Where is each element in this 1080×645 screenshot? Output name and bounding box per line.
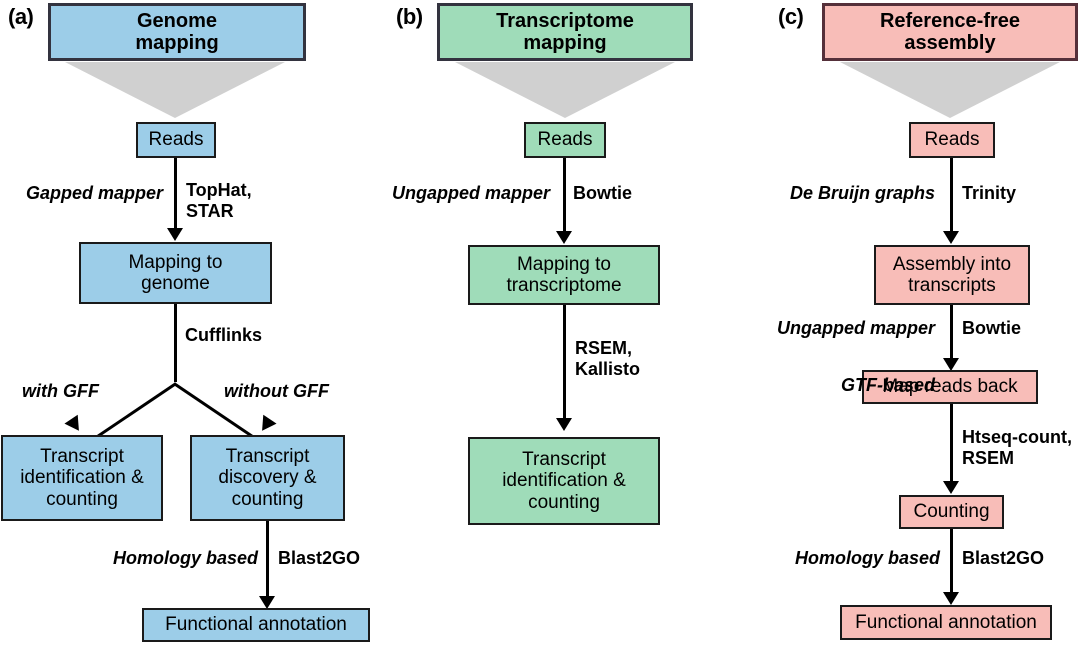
panel-b-arrowhead-counting-icon [556,418,572,431]
panel-b-edge-reads-mapping [563,158,566,232]
workflow-figure: (a) Genome mapping Reads Gapped mapper T… [0,0,1080,645]
panel-a-header: Genome mapping [48,3,306,61]
panel-c-label-trinity: Trinity [962,183,1072,204]
panel-b-node-mapping-to-transcriptome: Mapping to transcriptome [468,245,660,305]
panel-a-label-with-gff: with GFF [22,381,142,402]
panel-c-node-reads: Reads [909,122,995,158]
panel-label-a: (a) [8,4,33,30]
panel-a-node-functional-annotation: Functional annotation [142,608,370,642]
panel-a-arrowhead-icon [167,228,183,241]
panel-a-node-mapping-to-genome: Mapping to genome [79,242,272,304]
panel-a-node-transcript-discovery: Transcript discovery & counting [190,435,345,521]
panel-c-arrowhead-counting-icon [943,481,959,494]
panel-a-arrowhead-right-icon [255,415,276,436]
panel-a-node-transcript-identification: Transcript identification & counting [1,435,163,521]
panel-c-label-blast2go: Blast2GO [962,548,1080,569]
panel-c-arrowhead-annotation-icon [943,592,959,605]
panel-a-label-without-gff: without GFF [224,381,364,402]
panel-c-edge-assembly-mapback [950,305,953,361]
panel-b-label-ungapped-mapper: Ungapped mapper [385,183,550,204]
panel-c-label-gtf-based: GTF-based [780,375,935,396]
panel-a-label-tophat-star: TopHat, STAR [186,180,306,221]
panel-b-label-rsem-kallisto: RSEM, Kallisto [575,338,705,379]
panel-a-label-blast2go: Blast2GO [278,548,418,569]
panel-label-b: (b) [396,4,423,30]
panel-a-edge-discovery-annotation [266,521,269,599]
panel-c-header: Reference-free assembly [822,3,1078,61]
panel-c-edge-reads-assembly [950,158,953,232]
panel-a-edge-mapping-split [174,304,177,382]
panel-a-edge-reads-mapping [174,158,177,230]
panel-a-label-homology-based: Homology based [108,548,258,569]
panel-c-edge-mapback-counting [950,404,953,484]
panel-c-label-homology-based: Homology based [790,548,940,569]
panel-b-edge-mapping-counting [563,305,566,420]
panel-c-arrowhead-assembly-icon [943,231,959,244]
panel-c-label-ungapped-mapper: Ungapped mapper [770,318,935,339]
panel-a-node-reads: Reads [136,122,216,158]
panel-b-arrowhead-icon [556,231,572,244]
panel-c-node-counting: Counting [899,495,1004,529]
panel-b-node-reads: Reads [524,122,606,158]
panel-c-funnel-arrow-icon [840,62,1060,118]
panel-a-label-cufflinks: Cufflinks [185,325,315,346]
panel-c-node-assembly-into-transcripts: Assembly into transcripts [874,245,1030,305]
panel-b-node-transcript-identification: Transcript identification & counting [468,437,660,525]
panel-c-label-htseq-rsem: Htseq-count, RSEM [962,427,1080,468]
panel-a-arrowhead-left-icon [64,415,85,436]
panel-label-c: (c) [778,4,803,30]
panel-b-header: Transcriptome mapping [437,3,693,61]
panel-b-label-bowtie: Bowtie [573,183,693,204]
panel-c-label-bowtie: Bowtie [962,318,1072,339]
panel-a-funnel-arrow-icon [65,62,285,118]
panel-c-node-functional-annotation: Functional annotation [840,605,1052,640]
panel-b-funnel-arrow-icon [455,62,675,118]
panel-c-edge-counting-annotation [950,529,953,595]
panel-c-label-de-bruijn-graphs: De Bruijn graphs [770,183,935,204]
panel-a-label-gapped-mapper: Gapped mapper [0,183,163,204]
